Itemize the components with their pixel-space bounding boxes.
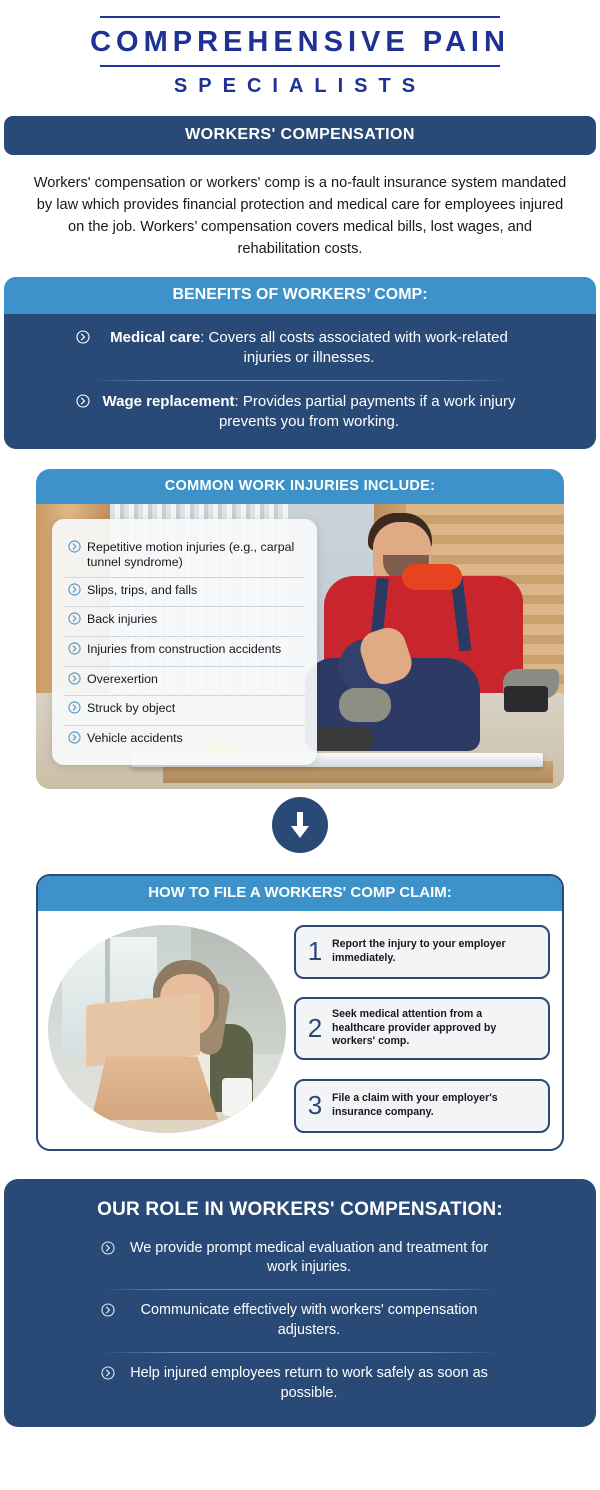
our-role-heading: OUR ROLE IN WORKERS' COMPENSATION: — [32, 1199, 568, 1239]
brand-name-primary: COMPREHENSIVE PAIN — [0, 18, 600, 65]
chevron-circle-icon — [68, 612, 81, 630]
list-item-label: Vehicle accidents — [87, 731, 183, 747]
injuries-section: COMMON WORK INJURIES INCLUDE: Repetitive… — [36, 469, 564, 789]
footer-divider — [102, 1352, 498, 1353]
laptop-woman-photo — [48, 925, 286, 1133]
list-item-label: Struck by object — [87, 701, 175, 717]
list-item: Struck by object — [64, 695, 305, 725]
chevron-circle-icon — [76, 330, 90, 350]
role-item: We provide prompt medical evaluation and… — [32, 1239, 568, 1278]
chevron-circle-icon — [68, 672, 81, 690]
list-item: Repetitive motion injuries (e.g., carpal… — [64, 535, 305, 577]
flow-arrow — [0, 797, 600, 858]
list-item: Overexertion — [64, 666, 305, 696]
list-item: Back injuries — [64, 606, 305, 636]
list-item: Injuries from construction accidents — [64, 636, 305, 666]
list-item-label: Repetitive motion injuries (e.g., carpal… — [87, 540, 301, 571]
chevron-circle-icon — [68, 583, 81, 601]
step-item: 2 Seek medical attention from a healthca… — [294, 997, 550, 1060]
role-item: Help injured employees return to work sa… — [32, 1364, 568, 1403]
list-item-label: Overexertion — [87, 672, 158, 688]
brand-logo: COMPREHENSIVE PAIN SPECIALISTS — [0, 0, 600, 110]
infographic-page: COMPREHENSIVE PAIN SPECIALISTS WORKERS' … — [0, 0, 600, 1490]
injuries-heading: COMMON WORK INJURIES INCLUDE: — [36, 469, 564, 504]
chevron-circle-icon — [68, 642, 81, 660]
chevron-circle-icon — [68, 731, 81, 749]
list-item-label: Slips, trips, and falls — [87, 583, 197, 599]
intro-paragraph: Workers' compensation or workers' comp i… — [0, 155, 600, 275]
step-item: 1 Report the injury to your employer imm… — [294, 925, 550, 979]
benefits-section: BENEFITS OF WORKERS’ COMP: Medical care:… — [4, 277, 596, 449]
step-text: File a claim with your employer's insura… — [332, 1092, 538, 1120]
howto-section: HOW TO FILE A WORKERS' COMP CLAIM: — [36, 874, 564, 1151]
benefit-item: Wage replacement: Provides partial payme… — [30, 392, 570, 433]
step-text: Report the injury to your employer immed… — [332, 938, 538, 966]
injuries-list: Repetitive motion injuries (e.g., carpal… — [52, 519, 317, 765]
chevron-circle-icon — [68, 540, 81, 558]
benefit-description: : Covers all costs associated with work-… — [200, 329, 508, 366]
list-item: Slips, trips, and falls — [64, 577, 305, 607]
list-item-label: Back injuries — [87, 612, 157, 628]
benefit-term: Wage replacement — [103, 393, 235, 410]
page-title-banner: WORKERS' COMPENSATION — [4, 116, 596, 155]
our-role-section: OUR ROLE IN WORKERS' COMPENSATION: We pr… — [4, 1179, 596, 1428]
step-text: Seek medical attention from a healthcare… — [332, 1008, 538, 1049]
benefits-heading: BENEFITS OF WORKERS’ COMP: — [4, 277, 596, 314]
step-number: 3 — [306, 1090, 324, 1121]
list-item-label: Injuries from construction accidents — [87, 642, 281, 658]
benefits-divider — [90, 380, 510, 381]
benefit-term: Medical care — [110, 329, 200, 346]
arrow-down-icon — [272, 797, 328, 853]
footer-divider — [102, 1289, 498, 1290]
chevron-circle-icon — [101, 1303, 115, 1323]
step-number: 2 — [306, 1013, 324, 1044]
step-number: 1 — [306, 936, 324, 967]
chevron-circle-icon — [68, 701, 81, 719]
step-item: 3 File a claim with your employer's insu… — [294, 1079, 550, 1133]
list-item: Vehicle accidents — [64, 725, 305, 755]
brand-name-secondary: SPECIALISTS — [0, 67, 600, 102]
role-item-label: We provide prompt medical evaluation and… — [119, 1239, 499, 1278]
benefit-description: : Provides partial payments if a work in… — [219, 393, 516, 430]
chevron-circle-icon — [101, 1241, 115, 1261]
chevron-circle-icon — [101, 1366, 115, 1386]
role-item-label: Communicate effectively with workers' co… — [119, 1301, 499, 1340]
chevron-circle-icon — [76, 394, 90, 414]
role-item-label: Help injured employees return to work sa… — [119, 1364, 499, 1403]
role-item: Communicate effectively with workers' co… — [32, 1301, 568, 1340]
howto-heading: HOW TO FILE A WORKERS' COMP CLAIM: — [37, 875, 563, 911]
benefit-item: Medical care: Covers all costs associate… — [30, 328, 570, 369]
